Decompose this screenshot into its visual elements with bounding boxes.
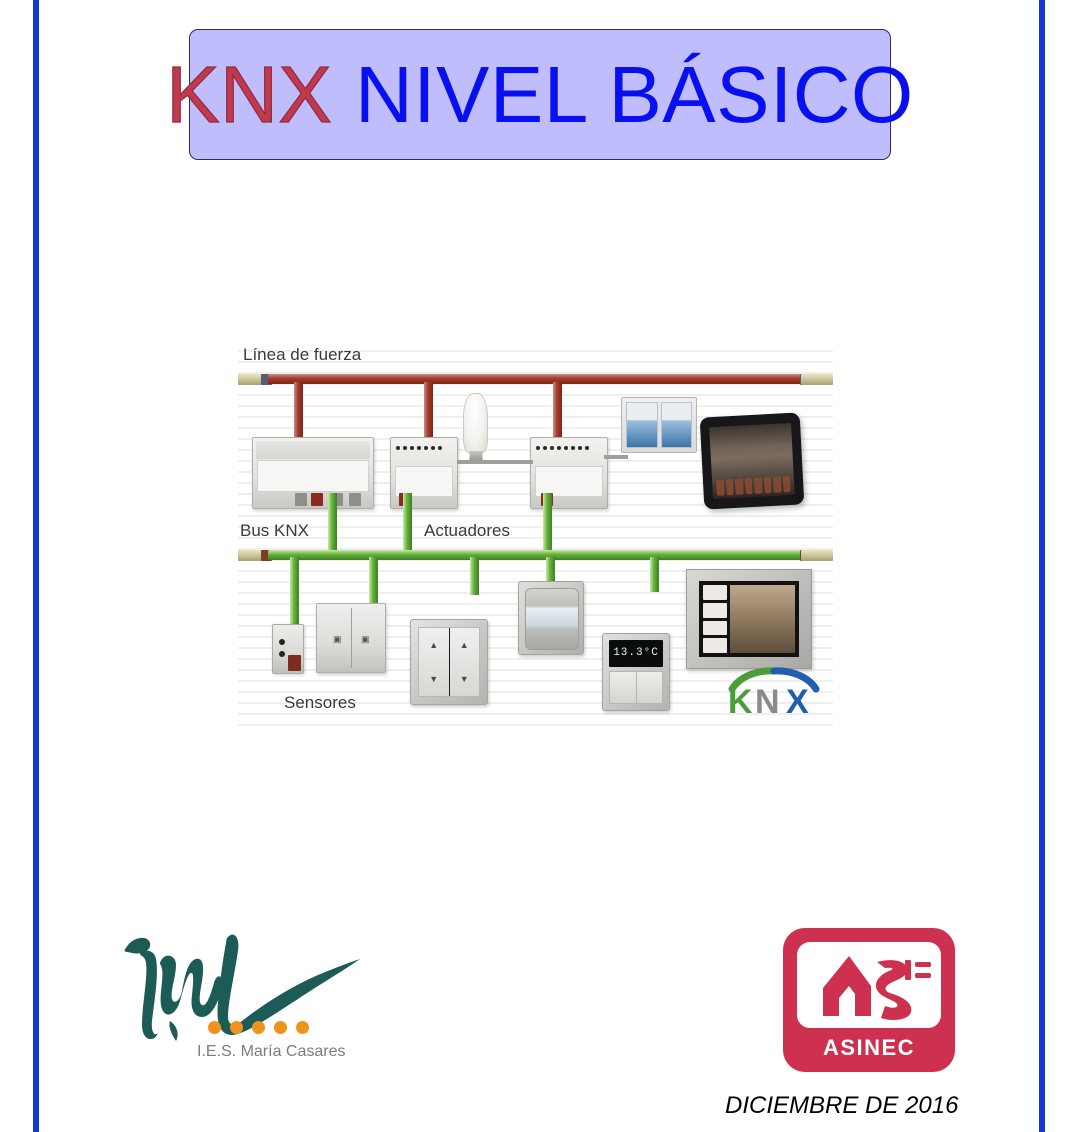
diagram-label-power-line: Línea de fuerza — [243, 345, 361, 365]
knx-brand-logo: K N X — [726, 665, 822, 717]
push-button-divider — [351, 608, 352, 668]
module-top-rail — [256, 441, 370, 459]
thermostat-buttons — [609, 671, 663, 704]
knx-system-diagram: Línea de fuerza Bus KNX Actuadores Senso… — [238, 341, 833, 733]
shutter-pane-left — [626, 402, 658, 448]
asinec-logo: ASINEC — [783, 928, 955, 1072]
tablet-screen — [709, 423, 795, 499]
rocker-glyph-up-right: ▲ — [460, 641, 469, 650]
shutter-pane-right — [661, 402, 693, 448]
power-cable-end-right — [801, 374, 833, 385]
push-button-glyph-left: ▣ — [333, 634, 342, 645]
ies-dot-3 — [252, 1021, 265, 1034]
rocker-right: ▲ ▼ — [450, 628, 480, 696]
rocker-glyph-down-left: ▼ — [429, 675, 438, 684]
thermostat-button-left — [610, 672, 636, 703]
switch-actuator-module — [390, 437, 458, 509]
window-shutter-load — [621, 397, 697, 453]
module-label-face — [257, 460, 369, 491]
shutter-wire — [604, 455, 628, 459]
shutter-actuator-module — [530, 437, 608, 509]
page-border-rule-left — [33, 0, 39, 1132]
asinec-plug-mark — [797, 942, 941, 1028]
tablet-visualisation — [700, 412, 805, 509]
asinec-logo-plate — [797, 942, 941, 1028]
push-button-rocker-area: ▲ ▼ ▲ ▼ — [418, 627, 480, 697]
bus-riser-1 — [328, 493, 337, 553]
motion-detector-lens — [525, 588, 579, 650]
bus-riser-2 — [403, 493, 412, 553]
knx-power-supply-module — [252, 437, 374, 509]
touch-panel-viewport — [730, 585, 795, 653]
touch-panel-display — [686, 569, 812, 669]
ies-dot-5 — [296, 1021, 309, 1034]
svg-text:K: K — [728, 683, 753, 717]
thermostat-button-right — [636, 672, 663, 703]
module-connector-dots — [396, 442, 452, 454]
coupler-indicator-1 — [279, 639, 285, 645]
title-rest-text: NIVEL BÁSICO — [332, 50, 914, 139]
bus-drop-5 — [650, 557, 659, 592]
svg-text:N: N — [755, 683, 780, 717]
diagram-label-actuators: Actuadores — [424, 521, 510, 541]
thermostat-display: 13.3°C — [609, 640, 663, 667]
document-date: DICIEMBRE DE 2016 — [725, 1092, 958, 1120]
asinec-logo-wordmark: ASINEC — [797, 1028, 941, 1068]
ies-maria-casares-logo: I.E.S. María Casares — [110, 925, 375, 1065]
coupler-indicator-2 — [279, 651, 285, 657]
power-line-bus — [268, 374, 806, 384]
module-terminal-1 — [295, 493, 307, 506]
rocker-glyph-down-right: ▼ — [460, 675, 469, 684]
flush-push-button-4fold: ▲ ▼ ▲ ▼ — [410, 619, 488, 705]
surface-push-button: ▣ ▣ — [316, 603, 386, 673]
ies-logo-name: I.E.S. María Casares — [197, 1043, 346, 1061]
module-terminal-bus — [311, 493, 323, 506]
room-thermostat: 13.3°C — [602, 633, 670, 711]
module-terminal-3 — [349, 493, 361, 506]
push-button-glyph-right: ▣ — [361, 634, 370, 645]
diagram-label-sensors: Sensores — [284, 693, 356, 713]
rocker-left: ▲ ▼ — [419, 628, 449, 696]
ies-logo-dots — [208, 1021, 309, 1034]
bus-cable-end-right — [801, 550, 833, 561]
ies-dot-2 — [230, 1021, 243, 1034]
title-box: KNX NIVEL BÁSICO — [189, 29, 891, 160]
page-title: KNX NIVEL BÁSICO — [166, 55, 914, 135]
title-brand-knx: KNX — [166, 50, 332, 139]
lamp-wire — [457, 460, 533, 464]
cfl-lamp-load — [463, 393, 488, 453]
rocker-glyph-up-left: ▲ — [429, 641, 438, 650]
motion-detector — [518, 581, 584, 655]
module-connector-dots — [536, 442, 602, 454]
touch-panel-menu — [703, 585, 727, 653]
knx-bus-line — [268, 550, 806, 560]
ies-dot-4 — [274, 1021, 287, 1034]
svg-text:X: X — [786, 683, 809, 717]
tablet-dock — [716, 476, 791, 496]
page-border-rule-right — [1039, 0, 1045, 1132]
touch-panel-screen — [699, 581, 799, 657]
bus-coupler-module — [272, 624, 304, 674]
bus-drop-1 — [290, 557, 299, 627]
diagram-label-bus: Bus KNX — [240, 521, 309, 541]
bus-riser-3 — [543, 493, 552, 553]
bus-drop-3 — [470, 557, 479, 595]
ies-dot-1 — [208, 1021, 221, 1034]
coupler-bus-terminal — [288, 655, 301, 671]
